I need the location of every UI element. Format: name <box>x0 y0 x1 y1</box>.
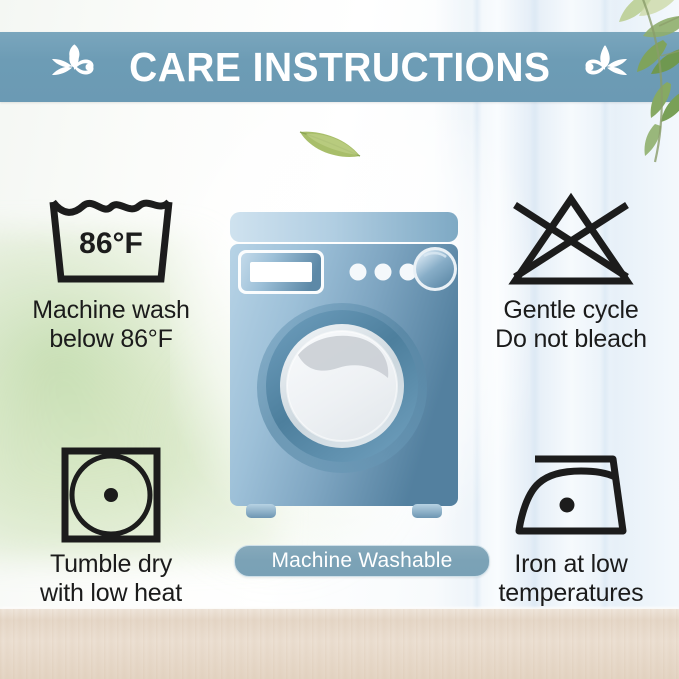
care-label: Machine wash below 86°F <box>6 296 216 354</box>
wooden-table <box>0 609 679 679</box>
care-label-line2: temperatures <box>466 579 676 608</box>
care-item-tumble-dry: Tumble dry with low heat <box>6 440 216 608</box>
washing-machine-illustration <box>228 210 460 530</box>
care-label-line1: Gentle cycle <box>466 296 676 325</box>
control-dial[interactable] <box>413 247 457 291</box>
care-label: Gentle cycle Do not bleach <box>466 296 676 354</box>
care-label-line2: with low heat <box>6 579 216 608</box>
care-label-line1: Tumble dry <box>6 550 216 579</box>
fleur-de-lis-icon-right <box>575 41 633 93</box>
care-label: Tumble dry with low heat <box>6 550 216 608</box>
washer-feet <box>246 504 442 518</box>
floating-leaf-icon <box>296 122 366 164</box>
washer-control-buttons[interactable] <box>350 264 417 281</box>
crossed-triangle-icon <box>501 191 641 291</box>
washer-door[interactable] <box>257 303 427 473</box>
care-icon-wrap <box>6 440 216 550</box>
fleur-de-lis-icon-left <box>46 41 104 93</box>
care-label-line1: Iron at low <box>466 550 676 579</box>
care-icon-wrap <box>466 440 676 550</box>
care-label-line1: Machine wash <box>6 296 216 325</box>
machine-washable-badge: Machine Washable <box>234 545 490 577</box>
care-icon-wrap <box>466 186 676 296</box>
detergent-drawer <box>238 250 324 294</box>
care-instructions-infographic: CARE INSTRUCTIONS <box>0 0 679 679</box>
wash-temperature-value: 86°F <box>79 227 143 260</box>
care-label: Iron at low temperatures <box>466 550 676 608</box>
care-item-iron-low: Iron at low temperatures <box>466 440 676 608</box>
care-icon-wrap: 86°F <box>6 186 216 296</box>
care-label-line2: below 86°F <box>6 325 216 354</box>
care-item-machine-wash: 86°F Machine wash below 86°F <box>6 186 216 354</box>
wash-tub-icon: 86°F <box>41 191 181 291</box>
badge-label: Machine Washable <box>271 549 452 573</box>
page-title: CARE INSTRUCTIONS <box>129 44 550 91</box>
header-banner: CARE INSTRUCTIONS <box>0 32 679 102</box>
care-item-do-not-bleach: Gentle cycle Do not bleach <box>466 186 676 354</box>
washer-top-lid <box>230 212 458 242</box>
iron-icon <box>501 445 641 545</box>
tumble-dry-square-icon <box>56 445 166 545</box>
care-label-line2: Do not bleach <box>466 325 676 354</box>
